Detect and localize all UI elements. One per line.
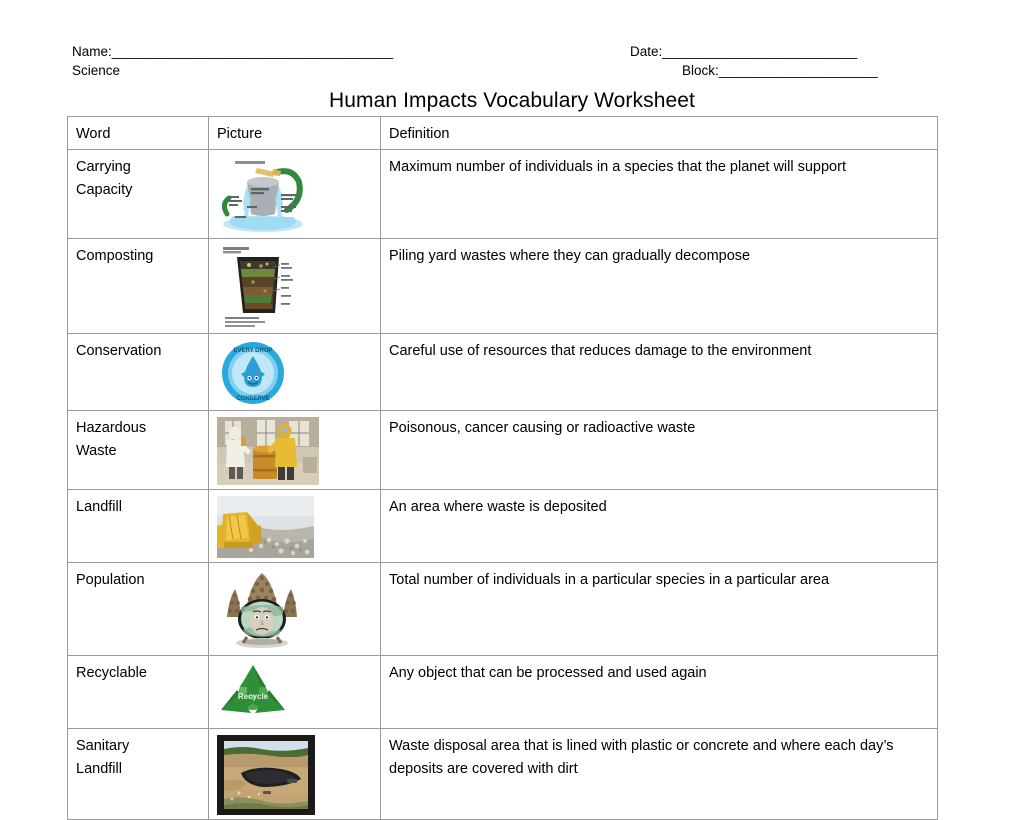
column-header-picture: Picture [209,117,381,150]
bucket-overflowing-with-water-diagram-icon [217,156,309,234]
term-word: Recyclable [68,656,209,729]
term-definition: Waste disposal area that is lined with p… [381,729,938,820]
term-definition: Any object that can be processed and use… [381,656,938,729]
term-word: Landfill [68,490,209,563]
block-blank-line[interactable]: ______________________ [719,63,878,78]
table-row: Composting [68,239,938,334]
header-fields: Name:___________________________________… [0,42,1024,88]
column-header-word: Word [68,117,209,150]
header-left-block: Name:___________________________________… [72,42,393,80]
svg-text:CONSERVE: CONSERVE [236,396,270,402]
term-picture-cell [209,239,381,334]
term-picture-cell [209,150,381,239]
crowded-globe-with-face-illustration-icon [217,569,307,651]
term-definition: Maximum number of individuals in a speci… [381,150,938,239]
bulldozer-on-trash-photo-icon [217,496,314,558]
block-field-row: Block:______________________ [630,61,877,80]
term-word: Carrying Capacity [68,150,209,239]
term-picture-cell [209,411,381,490]
term-definition: Careful use of resources that reduces da… [381,334,938,411]
term-word: Sanitary Landfill [68,729,209,820]
table-row: Landfill [68,490,938,563]
table-row: Population [68,563,938,656]
table-header-row: Word Picture Definition [68,117,938,150]
table-row: Recyclable [68,656,938,729]
term-definition: Piling yard wastes where they can gradua… [381,239,938,334]
header-right-block: Date:___________________________ Block:_… [630,42,877,80]
date-blank-line[interactable]: ___________________________ [662,44,857,59]
term-word: Conservation [68,334,209,411]
term-picture-cell: EVERY DROP CONSERVE [209,334,381,411]
term-word: Population [68,563,209,656]
vocabulary-table: Word Picture Definition Carrying Capacit… [67,116,938,820]
name-label: Name: [72,44,112,59]
table-row: Conservation [68,334,938,411]
table-row: Carrying Capacity [68,150,938,239]
table-row: Sanitary Landfill [68,729,938,820]
term-picture-cell [209,729,381,820]
term-definition: Total number of individuals in a particu… [381,563,938,656]
term-word: Hazardous Waste [68,411,209,490]
table-row: Hazardous Waste [68,411,938,490]
worksheet-page: Name:___________________________________… [0,0,1024,791]
vocabulary-table-wrapper: Word Picture Definition Carrying Capacit… [67,116,937,820]
green-recycle-arrows-symbol-icon: Recycle [217,662,289,724]
term-definition: Poisonous, cancer causing or radioactive… [381,411,938,490]
date-label: Date: [630,44,662,59]
subject-label: Science [72,61,393,80]
term-picture-cell [209,490,381,563]
name-blank-line[interactable]: _______________________________________ [112,44,393,59]
svg-text:EVERY DROP: EVERY DROP [233,348,272,354]
hazmat-workers-with-barrel-photo-icon [217,417,319,485]
page-title: Human Impacts Vocabulary Worksheet [0,88,1024,114]
date-field-row: Date:___________________________ [630,42,877,61]
block-label: Block: [682,63,719,78]
term-word: Composting [68,239,209,334]
term-picture-cell: Recycle [209,656,381,729]
every-drop-counts-water-badge-icon: EVERY DROP CONSERVE [217,340,289,406]
name-field-row: Name:___________________________________… [72,42,393,61]
term-definition: An area where waste is deposited [381,490,938,563]
term-picture-cell [209,563,381,656]
lined-landfill-pit-photo-icon [217,735,315,815]
column-header-definition: Definition [381,117,938,150]
layered-compost-bin-diagram-icon [217,245,317,329]
svg-text:Recycle: Recycle [238,692,269,701]
